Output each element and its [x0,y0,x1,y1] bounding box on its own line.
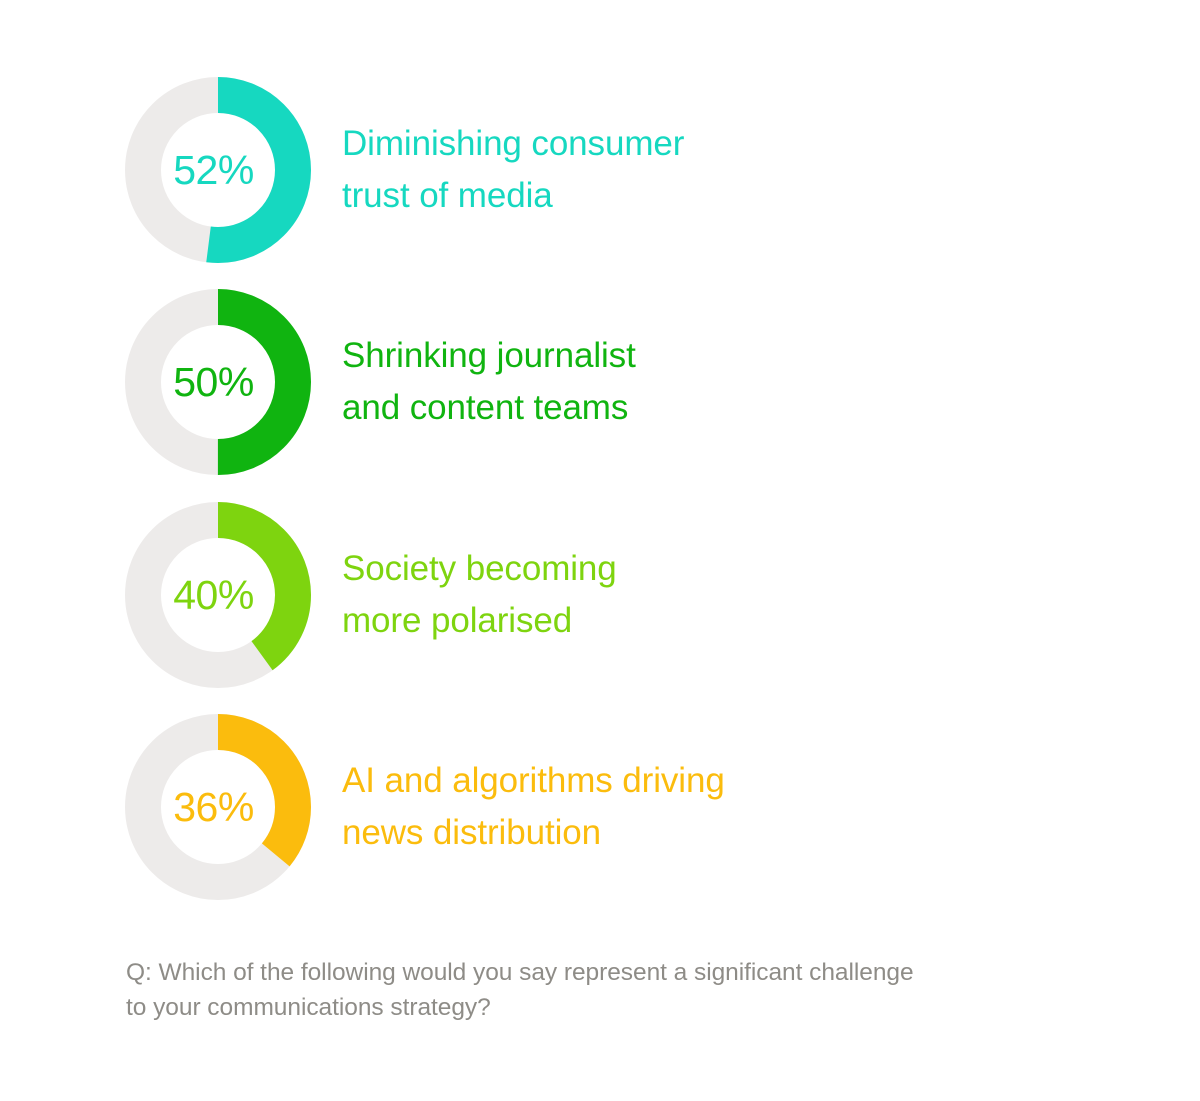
donut-category-label: AI and algorithms driving news distribut… [342,755,725,859]
donut-stat-row: 36%AI and algorithms driving news distri… [125,714,1125,900]
donut-stat-row: 50%Shrinking journalist and content team… [125,289,1125,475]
donut-gauge-svg [125,502,311,688]
donut-gauge-svg [125,77,311,263]
donut-category-label: Society becoming more polarised [342,543,617,647]
donut-gauge: 52% [125,77,311,263]
donut-gauge: 40% [125,502,311,688]
donut-category-label: Shrinking journalist and content teams [342,330,636,434]
donut-category-label: Diminishing consumer trust of media [342,118,684,222]
donut-gauge-svg [125,289,311,475]
donut-stat-row: 52%Diminishing consumer trust of media [125,77,1125,263]
donut-gauge: 50% [125,289,311,475]
survey-question-caption: Q: Which of the following would you say … [126,955,1086,1025]
donut-gauge-svg [125,714,311,900]
donut-chart-figure: 52%Diminishing consumer trust of media50… [0,0,1200,1101]
donut-gauge: 36% [125,714,311,900]
donut-stat-row: 40%Society becoming more polarised [125,502,1125,688]
